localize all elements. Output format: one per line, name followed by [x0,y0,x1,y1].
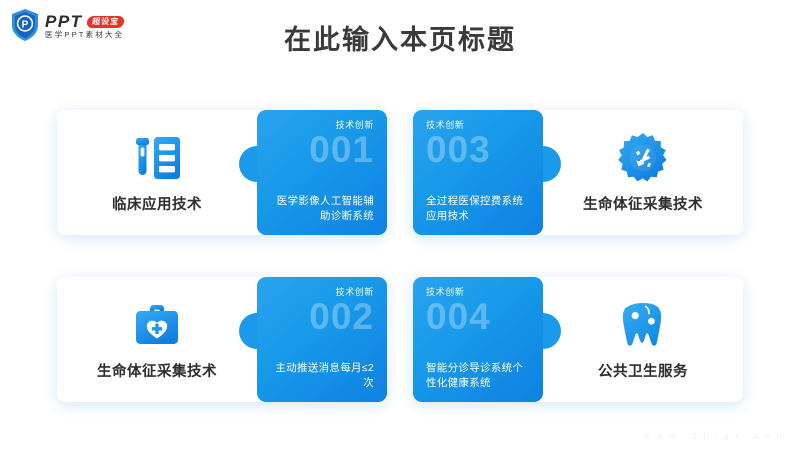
card-001-panel: 技术创新 001 医学影像人工智能辅助诊断系统 [257,110,387,235]
card-004-content: 公共卫生服务 [543,277,743,402]
card-004-description: 智能分诊导诊系统个性化健康系统 [426,361,530,391]
card-001-description: 医学影像人工智能辅助诊断系统 [270,194,374,224]
card-002-label: 生命体征采集技术 [97,360,217,381]
card-003-description: 全过程医保控费系统应用技术 [426,194,530,224]
medical-bag-heart-icon [130,299,184,351]
card-003-label: 生命体征采集技术 [583,193,703,214]
test-tube-clipboard-icon [130,132,184,184]
card-002-tag: 技术创新 [336,288,374,297]
card-004[interactable]: 公共卫生服务 技术创新 004 智能分诊导诊系统个性化健康系统 [413,277,743,402]
page-title: 在此输入本页标题 [0,18,800,57]
card-004-number: 004 [426,298,491,337]
card-002-description: 主动推送消息每月≤2次 [270,361,374,391]
card-004-tag: 技术创新 [426,288,464,297]
card-004-label: 公共卫生服务 [598,360,688,381]
card-001[interactable]: 临床应用技术 技术创新 001 医学影像人工智能辅助诊断系统 [57,110,387,235]
card-002[interactable]: 生命体征采集技术 技术创新 002 主动推送消息每月≤2次 [57,277,387,402]
cards-grid: 临床应用技术 技术创新 001 医学影像人工智能辅助诊断系统 [57,110,743,402]
card-001-number: 001 [309,131,374,170]
card-002-content: 生命体征采集技术 [57,277,257,402]
card-002-number: 002 [309,298,374,337]
card-003-number: 003 [426,131,491,170]
card-001-label: 临床应用技术 [112,193,202,214]
gear-icon [616,132,670,184]
site-watermark: w w w . p p t e r . c o m [644,431,786,441]
card-002-panel: 技术创新 002 主动推送消息每月≤2次 [257,277,387,402]
card-001-tag: 技术创新 [336,121,374,130]
card-003[interactable]: 生命体征采集技术 技术创新 003 全过程医保控费系统应用技术 [413,110,743,235]
card-003-panel: 技术创新 003 全过程医保控费系统应用技术 [413,110,543,235]
card-004-panel: 技术创新 004 智能分诊导诊系统个性化健康系统 [413,277,543,402]
card-001-content: 临床应用技术 [57,110,257,235]
card-003-tag: 技术创新 [426,121,464,130]
tooth-icon [616,299,670,351]
card-003-content: 生命体征采集技术 [543,110,743,235]
